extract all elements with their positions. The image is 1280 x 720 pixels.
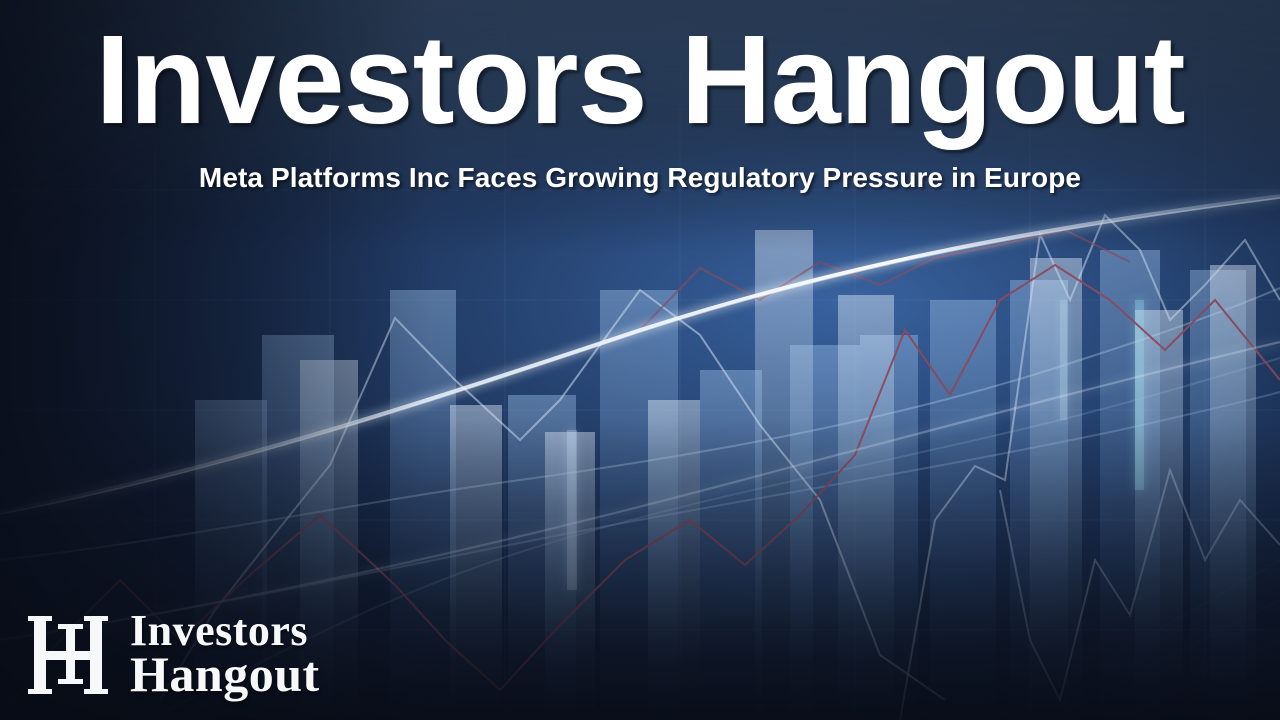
page-subtitle: Meta Platforms Inc Faces Growing Regulat…	[0, 162, 1280, 194]
brand-logo-line2: Hangout	[130, 650, 320, 699]
page-title: Investors Hangout	[0, 12, 1280, 148]
promo-banner: Investors Hangout Meta Platforms Inc Fac…	[0, 0, 1280, 720]
brand-logo[interactable]: Investors Hangout	[28, 606, 320, 702]
brand-logo-text: Investors Hangout	[130, 609, 320, 699]
banner-header: Investors Hangout Meta Platforms Inc Fac…	[0, 0, 1280, 194]
ih-monogram-icon	[28, 606, 120, 702]
